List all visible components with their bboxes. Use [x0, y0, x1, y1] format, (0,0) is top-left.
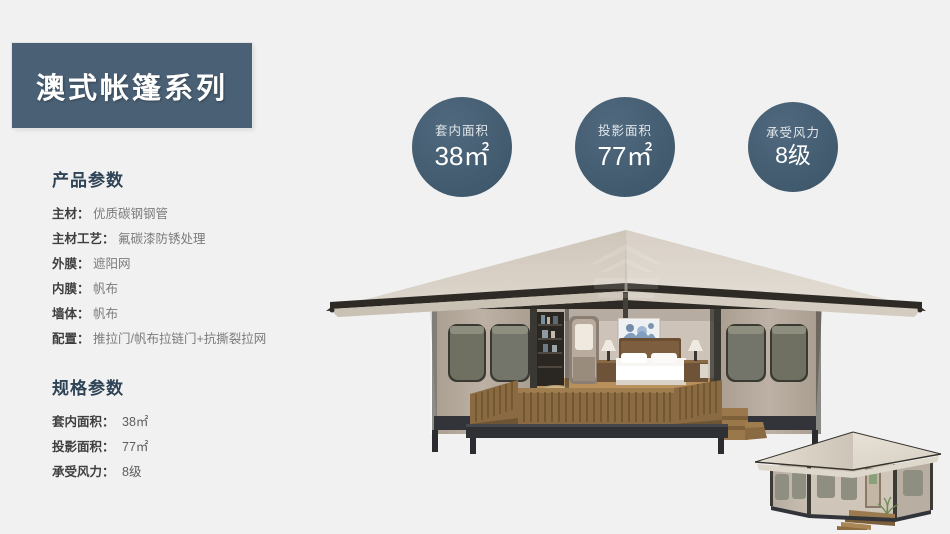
spec-row: 投影面积： 77㎡: [52, 435, 148, 460]
stat-badge-value: 77㎡: [598, 143, 653, 169]
size-params-section: 规格参数 套内面积： 38㎡ 投影面积： 77㎡ 承受风力： 8级: [52, 374, 148, 485]
tent-roof: [326, 230, 926, 318]
spec-value: 8级: [118, 465, 141, 479]
secondary-tent-image: [745, 418, 945, 530]
spec-value: 遮阳网: [93, 257, 131, 271]
spec-label: 投影面积：: [52, 440, 115, 454]
spec-row: 主材： 优质碳钢钢管: [52, 202, 266, 227]
spec-row: 内膜： 帆布: [52, 277, 266, 302]
stat-badge-wind-rating: 承受风力 8级: [748, 102, 838, 192]
spec-row: 配置： 推拉门/帆布拉链门+抗撕裂拉网: [52, 327, 266, 352]
stat-badge-indoor-area: 套内面积 38㎡: [412, 97, 512, 197]
spec-label: 套内面积：: [52, 415, 115, 429]
stat-badge-label: 套内面积: [435, 125, 489, 138]
spec-value: 推拉门/帆布拉链门+抗撕裂拉网: [93, 332, 266, 346]
stat-badge-projected-area: 投影面积 77㎡: [575, 97, 675, 197]
stat-badge-value: 38㎡: [435, 143, 490, 169]
cropped-wood-fragment-top: [745, 422, 764, 428]
spec-value: 38㎡: [118, 415, 148, 429]
size-params-heading: 规格参数: [52, 374, 148, 399]
spec-value: 77㎡: [118, 440, 148, 454]
spec-label: 承受风力：: [52, 465, 115, 479]
stat-badge-label: 投影面积: [598, 125, 652, 138]
spec-label: 配置：: [52, 332, 90, 346]
spec-label: 墙体：: [52, 307, 90, 321]
spec-row: 主材工艺： 氟碳漆防锈处理: [52, 227, 266, 252]
spec-label: 主材：: [52, 207, 90, 221]
stat-badge-label: 承受风力: [766, 127, 820, 140]
slide-canvas: 澳式帐篷系列 产品参数 主材： 优质碳钢钢管 主材工艺： 氟碳漆防锈处理 外膜：…: [0, 0, 950, 534]
spec-value: 帆布: [93, 282, 118, 296]
page-title: 澳式帐篷系列: [36, 65, 228, 107]
product-params-heading: 产品参数: [52, 166, 266, 191]
spec-row: 外膜： 遮阳网: [52, 252, 266, 277]
spec-label: 主材工艺：: [52, 232, 115, 246]
secondary-tent-illustration: [745, 418, 945, 530]
stat-badge-value: 8级: [775, 144, 811, 167]
spec-value: 帆布: [93, 307, 118, 321]
spec-label: 外膜：: [52, 257, 90, 271]
spec-row: 承受风力： 8级: [52, 460, 148, 485]
page-title-banner: 澳式帐篷系列: [12, 43, 252, 128]
spec-value: 氟碳漆防锈处理: [118, 232, 206, 246]
spec-label: 内膜：: [52, 282, 90, 296]
spec-row: 墙体： 帆布: [52, 302, 266, 327]
spec-row: 套内面积： 38㎡: [52, 410, 148, 435]
spec-value: 优质碳钢钢管: [93, 207, 168, 221]
product-params-section: 产品参数 主材： 优质碳钢钢管 主材工艺： 氟碳漆防锈处理 外膜： 遮阳网 内膜…: [52, 166, 266, 352]
